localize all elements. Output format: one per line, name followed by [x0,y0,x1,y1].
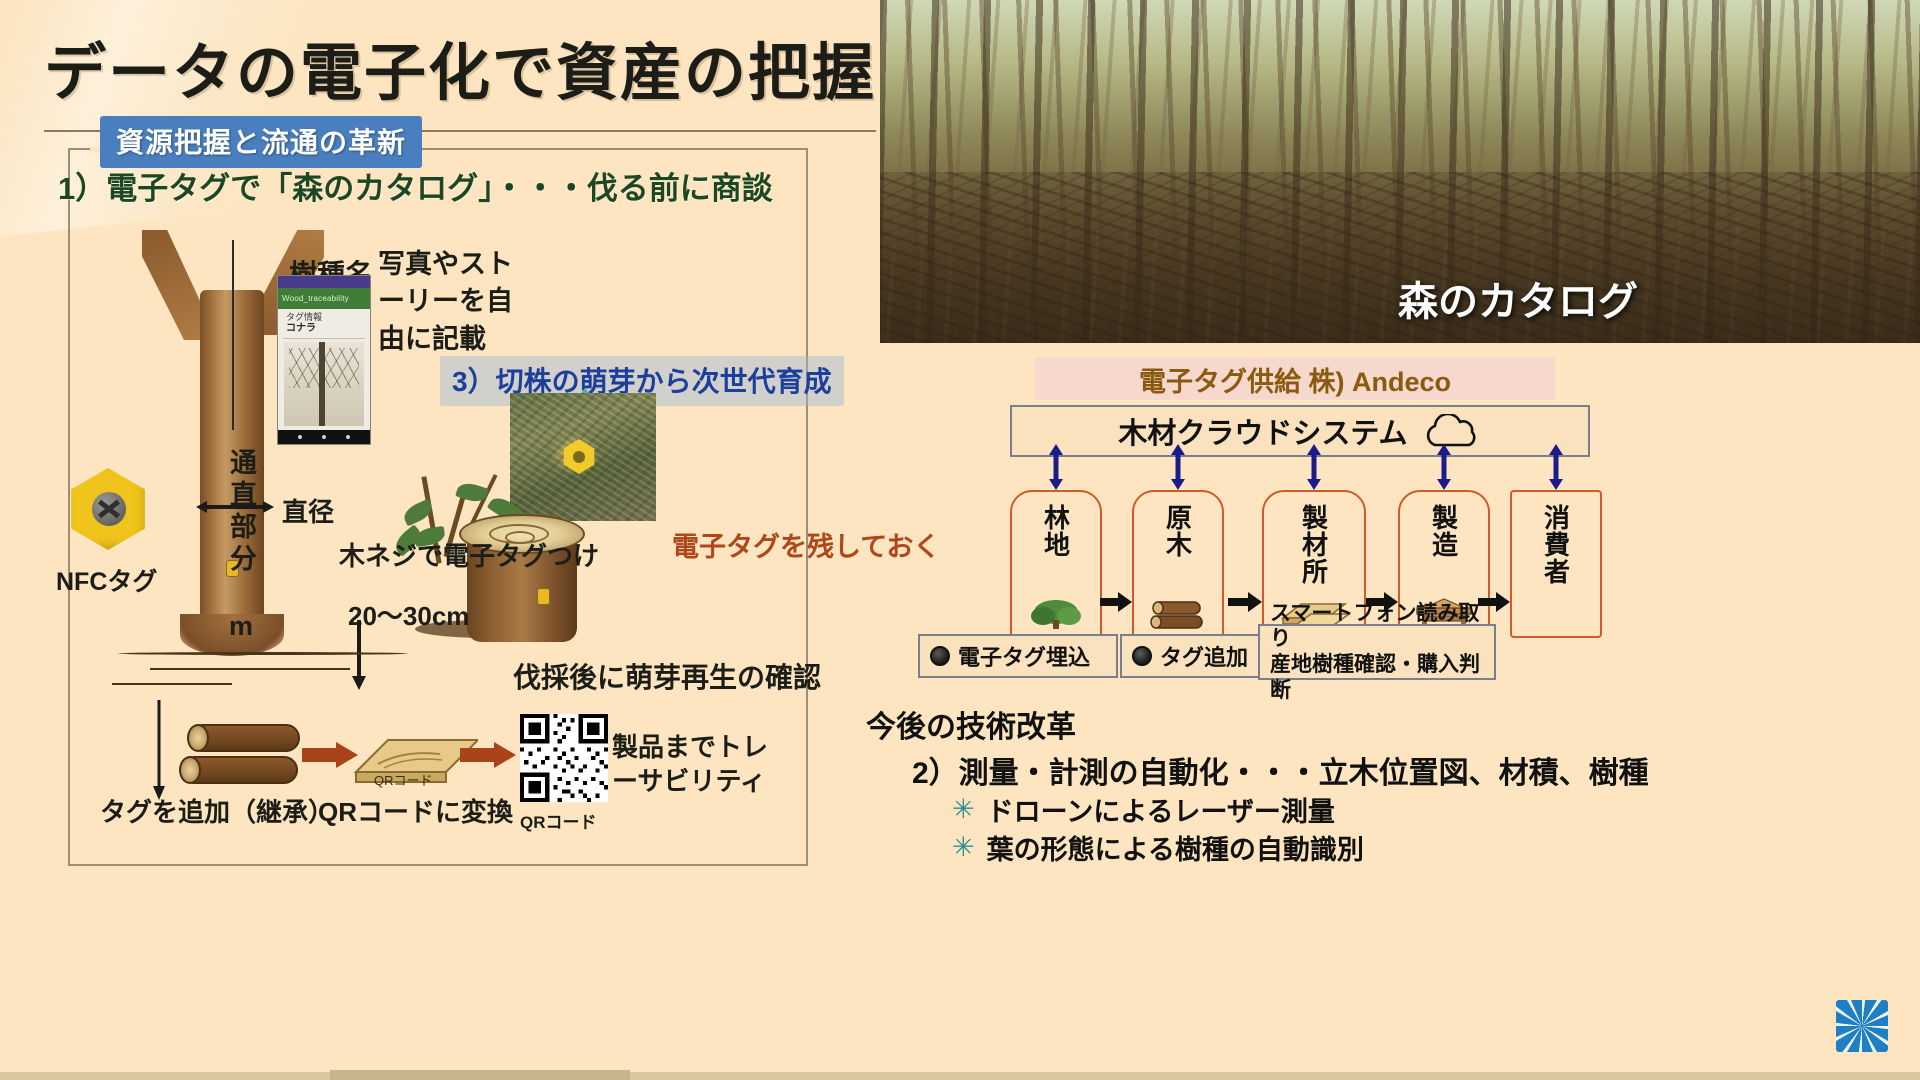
flow-arrow-icon-2 [460,742,516,768]
phone-tree-photo [284,342,364,426]
chain-node-label: 消費者 [1538,504,1575,585]
nfc-tag-in-photo-icon [562,439,596,474]
wood-cloud-system-label: 木材クラウドシステム [1118,410,1407,452]
bidirectional-arrow-icon [1548,444,1564,490]
ground-line-1 [118,652,408,655]
depth-arrow-icon [352,620,366,690]
chain-node-consumer: 消費者 [1510,490,1602,638]
phone-species-value: コナラ [286,323,366,336]
ground-line-3 [112,683,232,685]
tag-supplier-label: 電子タグ供給 株) Andeco [1139,360,1451,399]
log-icon-1 [188,724,300,752]
depth-label: 20〜30cm [348,596,469,633]
ground-line-2 [150,668,350,670]
future-bullet-label: ドローンによるレーザー測量 [987,790,1335,829]
badge-label: タグ追加 [1160,640,1248,672]
qr-code-image [520,714,608,802]
nfc-dot-icon [1132,646,1152,666]
nfc-dot-icon [930,646,950,666]
height-measure-label: 通直部分 m [222,448,261,646]
bidirectional-arrow-icon [1170,444,1186,490]
bush-icon [1029,596,1083,630]
phone-app-title: Wood_traceability [278,288,370,309]
cloud-icon [1420,414,1482,448]
diameter-label: 直径 [282,492,334,529]
story-note-label: 写真やストーリーを自由に記載 [378,246,538,358]
flow-arrow-icon [1228,592,1262,612]
badge-smartphone-read: スマートフォン読み取り 産地樹種確認・購入判断 [1258,624,1496,680]
phone-status-bar [278,276,370,288]
slide-root: データの電子化で資産の把握 37 森のカタログ 資源把握と流通の革新 1）電子タ… [0,0,1920,1080]
forest-photo: 森のカタログ [880,0,1920,343]
badge-tag-added: タグ追加 [1120,634,1280,678]
flow-step-1-label: タグを追加（継承） [100,792,334,829]
chain-node-label: 製造 [1426,504,1463,558]
flow-arrow-icon [1100,592,1132,612]
logs-illustration [180,718,300,798]
bidirectional-arrow-icon [1306,444,1322,490]
screw-head-icon [92,492,126,526]
qr-code-caption: QRコード [520,808,597,833]
phone-divider [283,338,365,339]
page-title: データの電子化で資産の把握 [44,22,876,112]
chain-node-logs: 原木 [1132,490,1224,638]
forest-photo-caption: 森のカタログ [1398,269,1638,327]
board-qr-caption: QRコード [374,770,433,789]
future-tech-heading: 今後の技術改革 [866,702,1076,746]
diameter-arrow-icon [196,500,274,514]
log-cut-face [179,756,201,784]
organization-logo [1836,1000,1888,1052]
phone-tag-info-row: タグ情報 コナラ [278,309,370,337]
log-icon-2 [180,756,298,784]
bottom-tab [330,1070,630,1080]
log-cut-face [187,724,209,752]
left-item-1: 1）電子タグで「森のカタログ」・・・伐る前に商談 [58,163,773,208]
tag-supplier-bar: 電子タグ供給 株) Andeco [1035,358,1555,400]
chain-node-label: 原木 [1160,504,1197,558]
phone-section-label: タグ情報 [286,312,322,322]
bidirectional-arrow-icon [1048,444,1064,490]
phone-mockup: Wood_traceability タグ情報 コナラ [277,275,371,445]
logs-icon [1150,598,1206,630]
keep-tag-note: 電子タグを残しておく [672,530,940,565]
badge-label: 電子タグ埋込 [958,640,1090,672]
bidirectional-arrow-icon [1436,444,1452,490]
screw-attach-note: 木ネジで電子タグつけ [339,540,599,574]
nfc-tag-label: NFCタグ [56,562,157,598]
bottom-strip [0,1072,1920,1080]
badge-label: スマートフォン読み取り 産地樹種確認・購入判断 [1270,601,1484,703]
flow-step-2-label: QRコードに変換 [318,792,513,829]
future-bullet-label: 葉の形態による樹種の自動識別 [987,828,1364,867]
future-bullet-1: ✳ ドローンによるレーザー測量 [952,790,1335,829]
chain-node-label: 林地 [1038,504,1075,558]
nfc-tag-on-stump-icon [537,588,550,605]
wood-cloud-system-box: 木材クラウドシステム [1010,405,1590,457]
nfc-tag-pointer-arrow-icon [152,700,166,800]
future-bullet-2: ✳ 葉の形態による樹種の自動識別 [952,828,1364,867]
regeneration-confirm-note: 伐採後に萌芽再生の確認 [513,656,821,696]
panel-badge: 資源把握と流通の革新 [100,116,422,168]
traceability-note: 製品までトレーサビリティ [612,730,788,799]
asterisk-icon: ✳ [952,832,975,863]
phone-nav-bar [278,430,370,444]
chain-node-forest: 林地 [1010,490,1102,638]
future-item-2: 2）測量・計測の自動化・・・立木位置図、材積、樹種 [912,748,1649,792]
badge-tag-embedded: 電子タグ埋込 [918,634,1118,678]
chain-node-label: 製材所 [1296,504,1333,585]
height-measure-line [232,240,234,430]
asterisk-icon: ✳ [952,794,975,825]
